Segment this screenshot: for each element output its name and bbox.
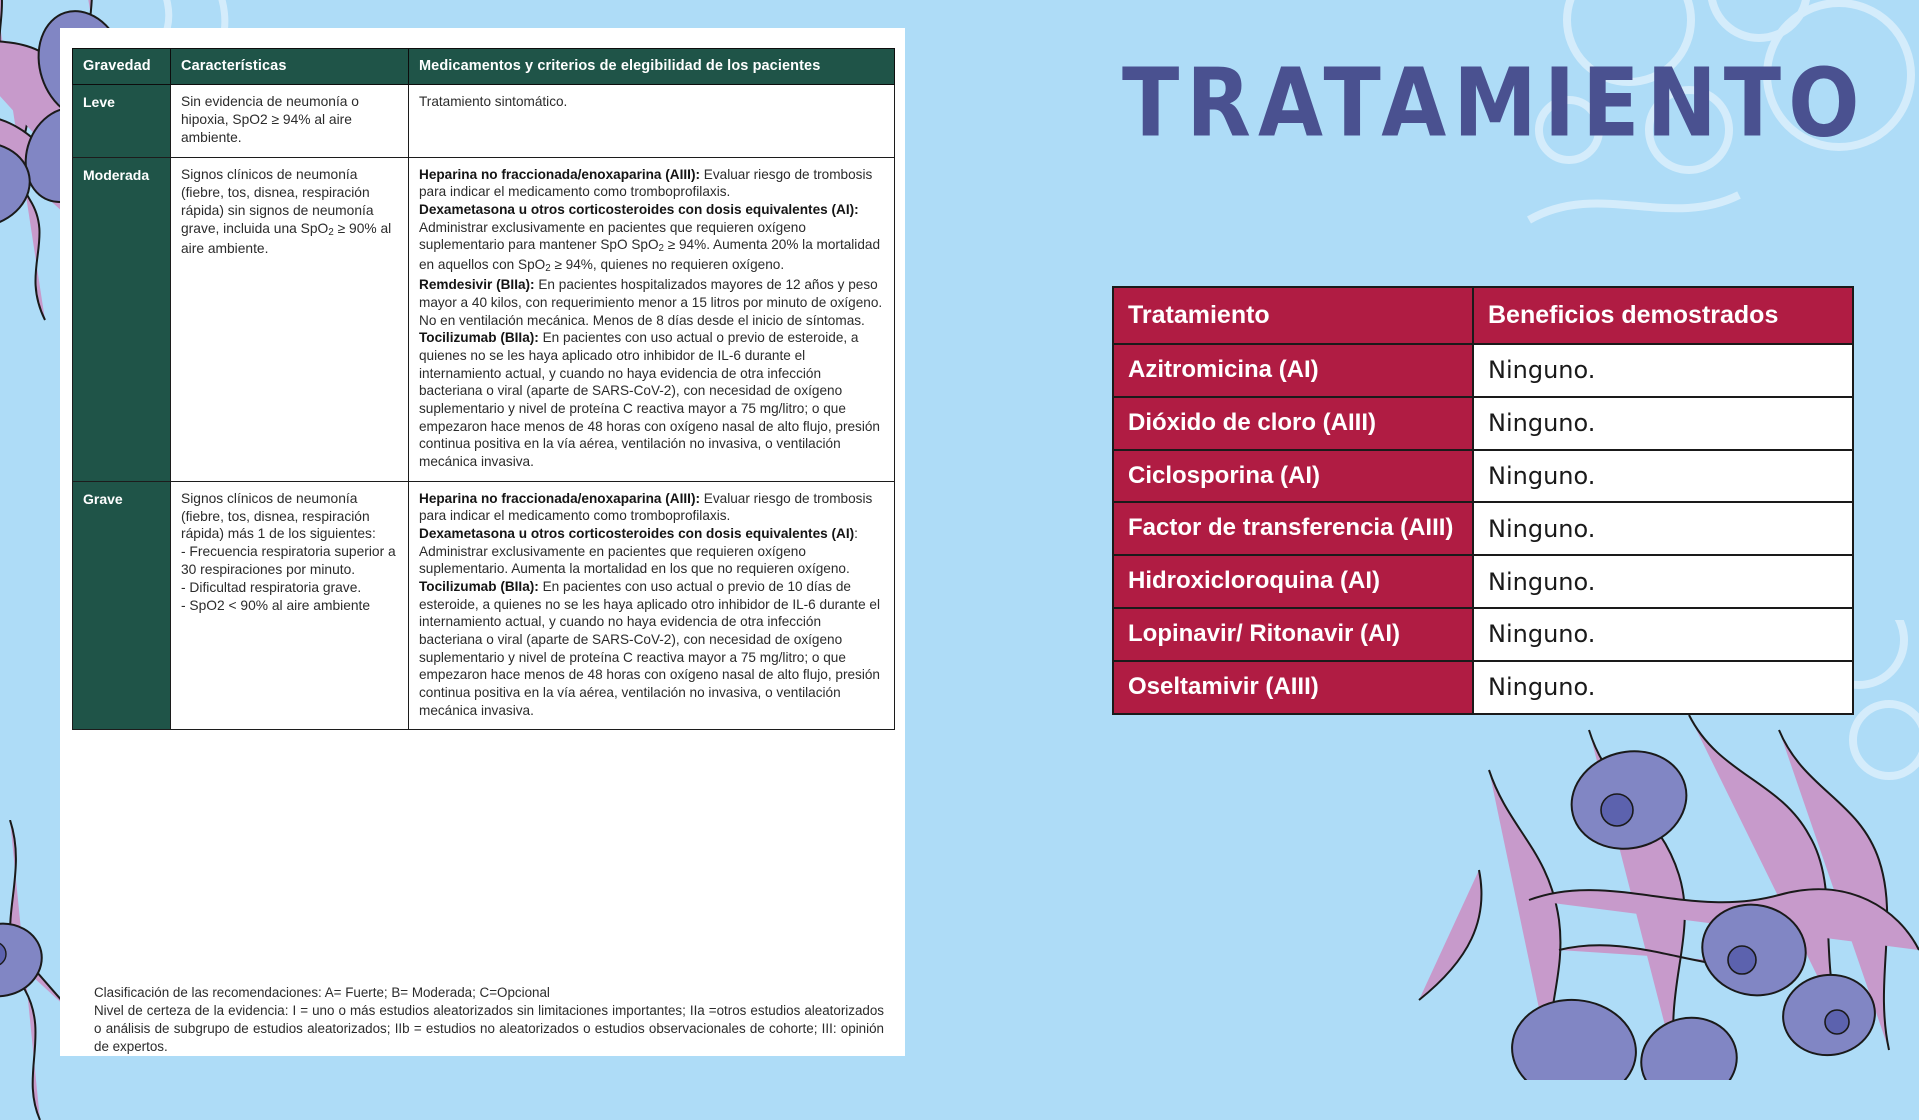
table-row: Ciclosporina (AI)Ninguno. [1113,450,1853,503]
medication-item: Dexametasona u otros corticosteroides co… [419,525,884,578]
medication-item: Tocilizumab (BIIa): En pacientes con uso… [419,329,884,470]
characteristics-text: Signos clínicos de neumonía (fiebre, tos… [181,490,398,615]
treatment-table-wrapper: Tratamiento Beneficios demostrados Azitr… [1112,286,1852,715]
treatment-name: Lopinavir/ Ritonavir (AI) [1113,608,1473,661]
characteristics-text: Signos clínicos de neumonía (fiebre, tos… [181,166,398,258]
col-header-gravedad: Gravedad [73,49,171,85]
footnote-line-2: Nivel de certeza de la evidencia: I = un… [94,1002,884,1056]
treatment-benefit: Ninguno. [1473,502,1853,555]
medication-text: Tratamiento sintomático. [419,93,884,111]
medication-item: Heparina no fraccionada/enoxaparina (AII… [419,166,884,201]
col-header-tratamiento: Tratamiento [1113,287,1473,344]
severity-label-leve: Leve [73,85,171,158]
table-row-moderada: Moderada Signos clínicos de neumonía (fi… [73,157,895,481]
treatment-name: Ciclosporina (AI) [1113,450,1473,503]
table-row-leve: Leve Sin evidencia de neumonía o hipoxia… [73,85,895,158]
treatment-name: Hidroxicloroquina (AI) [1113,555,1473,608]
page-title: TRATAMIENTO [1122,48,1867,158]
medication-item: Remdesivir (BIIa): En pacientes hospital… [419,276,884,329]
treatment-header-row: Tratamiento Beneficios demostrados [1113,287,1853,344]
treatment-name: Oseltamivir (AIII) [1113,661,1473,714]
col-header-beneficios: Beneficios demostrados [1473,287,1853,344]
characteristics-moderada: Signos clínicos de neumonía (fiebre, tos… [171,157,409,481]
medication-item: Tocilizumab (BIIa): En pacientes con uso… [419,578,884,719]
treatment-name: Factor de transferencia (AIII) [1113,502,1473,555]
medications-leve: Tratamiento sintomático. [409,85,895,158]
table-row: Azitromicina (AI)Ninguno. [1113,344,1853,397]
col-header-caracteristicas: Características [171,49,409,85]
treatment-name: Dióxido de cloro (AIII) [1113,397,1473,450]
medication-item: Dexametasona u otros corticosteroides co… [419,201,884,276]
footnote-line-1: Clasificación de las recomendaciones: A=… [94,984,884,1002]
severity-table-header-row: Gravedad Características Medicamentos y … [73,49,895,85]
treatment-benefit: Ninguno. [1473,608,1853,661]
table-row: Hidroxicloroquina (AI)Ninguno. [1113,555,1853,608]
characteristics-text: Sin evidencia de neumonía o hipoxia, SpO… [181,93,398,147]
medication-item: Heparina no fraccionada/enoxaparina (AII… [419,490,884,525]
medications-grave: Heparina no fraccionada/enoxaparina (AII… [409,481,895,730]
treatment-table: Tratamiento Beneficios demostrados Azitr… [1112,286,1854,715]
severity-table: Gravedad Características Medicamentos y … [72,48,895,730]
treatment-benefit: Ninguno. [1473,344,1853,397]
table-row: Factor de transferencia (AIII)Ninguno. [1113,502,1853,555]
treatment-benefit: Ninguno. [1473,661,1853,714]
treatment-table-body: Azitromicina (AI)Ninguno.Dióxido de clor… [1113,344,1853,714]
medications-moderada: Heparina no fraccionada/enoxaparina (AII… [409,157,895,481]
severity-label-moderada: Moderada [73,157,171,481]
severity-table-card: Gravedad Características Medicamentos y … [60,28,905,1056]
treatment-benefit: Ninguno. [1473,555,1853,608]
medication-list: Heparina no fraccionada/enoxaparina (AII… [419,490,884,720]
treatment-name: Azitromicina (AI) [1113,344,1473,397]
table-row: Lopinavir/ Ritonavir (AI)Ninguno. [1113,608,1853,661]
treatment-benefit: Ninguno. [1473,397,1853,450]
treatment-benefit: Ninguno. [1473,450,1853,503]
characteristics-grave: Signos clínicos de neumonía (fiebre, tos… [171,481,409,730]
medication-list: Heparina no fraccionada/enoxaparina (AII… [419,166,884,471]
characteristics-leve: Sin evidencia de neumonía o hipoxia, SpO… [171,85,409,158]
col-header-medicamentos: Medicamentos y criterios de elegibilidad… [409,49,895,85]
table-row-grave: Grave Signos clínicos de neumonía (fiebr… [73,481,895,730]
table-row: Dióxido de cloro (AIII)Ninguno. [1113,397,1853,450]
severity-label-grave: Grave [73,481,171,730]
table-row: Oseltamivir (AIII)Ninguno. [1113,661,1853,714]
footnote: Clasificación de las recomendaciones: A=… [94,984,884,1056]
